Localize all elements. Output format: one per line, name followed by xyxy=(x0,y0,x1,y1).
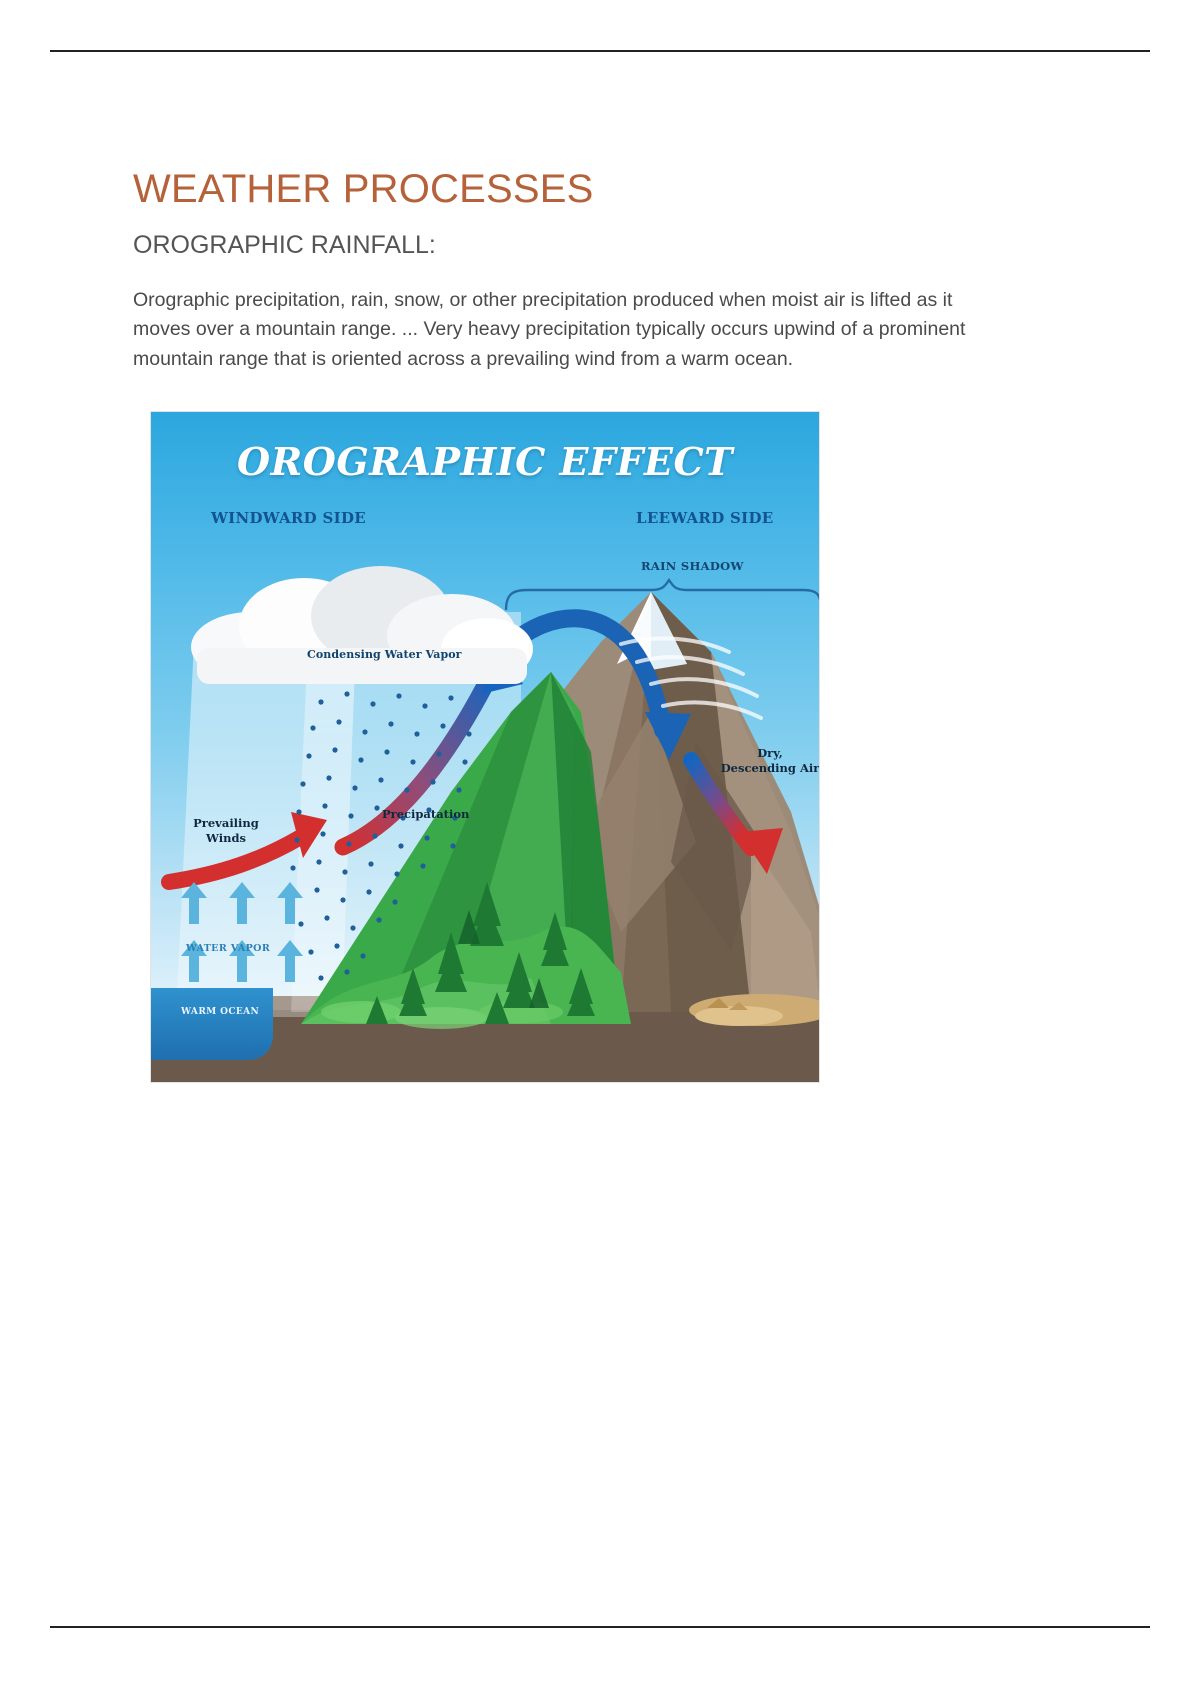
label-condensing-water-vapor: Condensing Water Vapor xyxy=(307,648,462,661)
page-top-rule xyxy=(50,50,1150,52)
warm-ocean xyxy=(151,988,273,1060)
label-leeward-side: LEEWARD SIDE xyxy=(636,509,774,527)
label-water-vapor: WATER VAPOR xyxy=(186,943,270,954)
document-page: WEATHER PROCESSES OROGRAPHIC RAINFALL: O… xyxy=(0,0,1200,1700)
document-content: WEATHER PROCESSES OROGRAPHIC RAINFALL: O… xyxy=(133,168,1033,374)
label-dry-descending-air-line2: Descending Air xyxy=(711,761,819,776)
label-dry-descending-air: Dry, Descending Air xyxy=(711,746,819,775)
page-title: WEATHER PROCESSES xyxy=(133,168,1033,210)
page-bottom-rule xyxy=(50,1626,1150,1628)
label-prevailing-winds: Prevailing Winds xyxy=(183,816,269,845)
figure-title: OROGRAPHIC EFFECT xyxy=(151,439,819,484)
label-prevailing-winds-line2: Winds xyxy=(183,831,269,846)
section-heading: OROGRAPHIC RAINFALL: xyxy=(133,232,1033,260)
label-dry-descending-air-line1: Dry, xyxy=(711,746,819,761)
label-windward-side: WINDWARD SIDE xyxy=(211,509,366,527)
label-precipitation: Precipatation xyxy=(382,807,469,821)
cloud-cluster xyxy=(191,564,531,684)
label-prevailing-winds-line1: Prevailing xyxy=(183,816,269,831)
label-rain-shadow: RAIN SHADOW xyxy=(641,559,744,573)
label-warm-ocean: WARM OCEAN xyxy=(181,1007,259,1017)
orographic-effect-figure: OROGRAPHIC EFFECT WINDWARD SIDE LEEWARD … xyxy=(150,411,820,1083)
body-paragraph: Orographic precipitation, rain, snow, or… xyxy=(133,286,988,375)
